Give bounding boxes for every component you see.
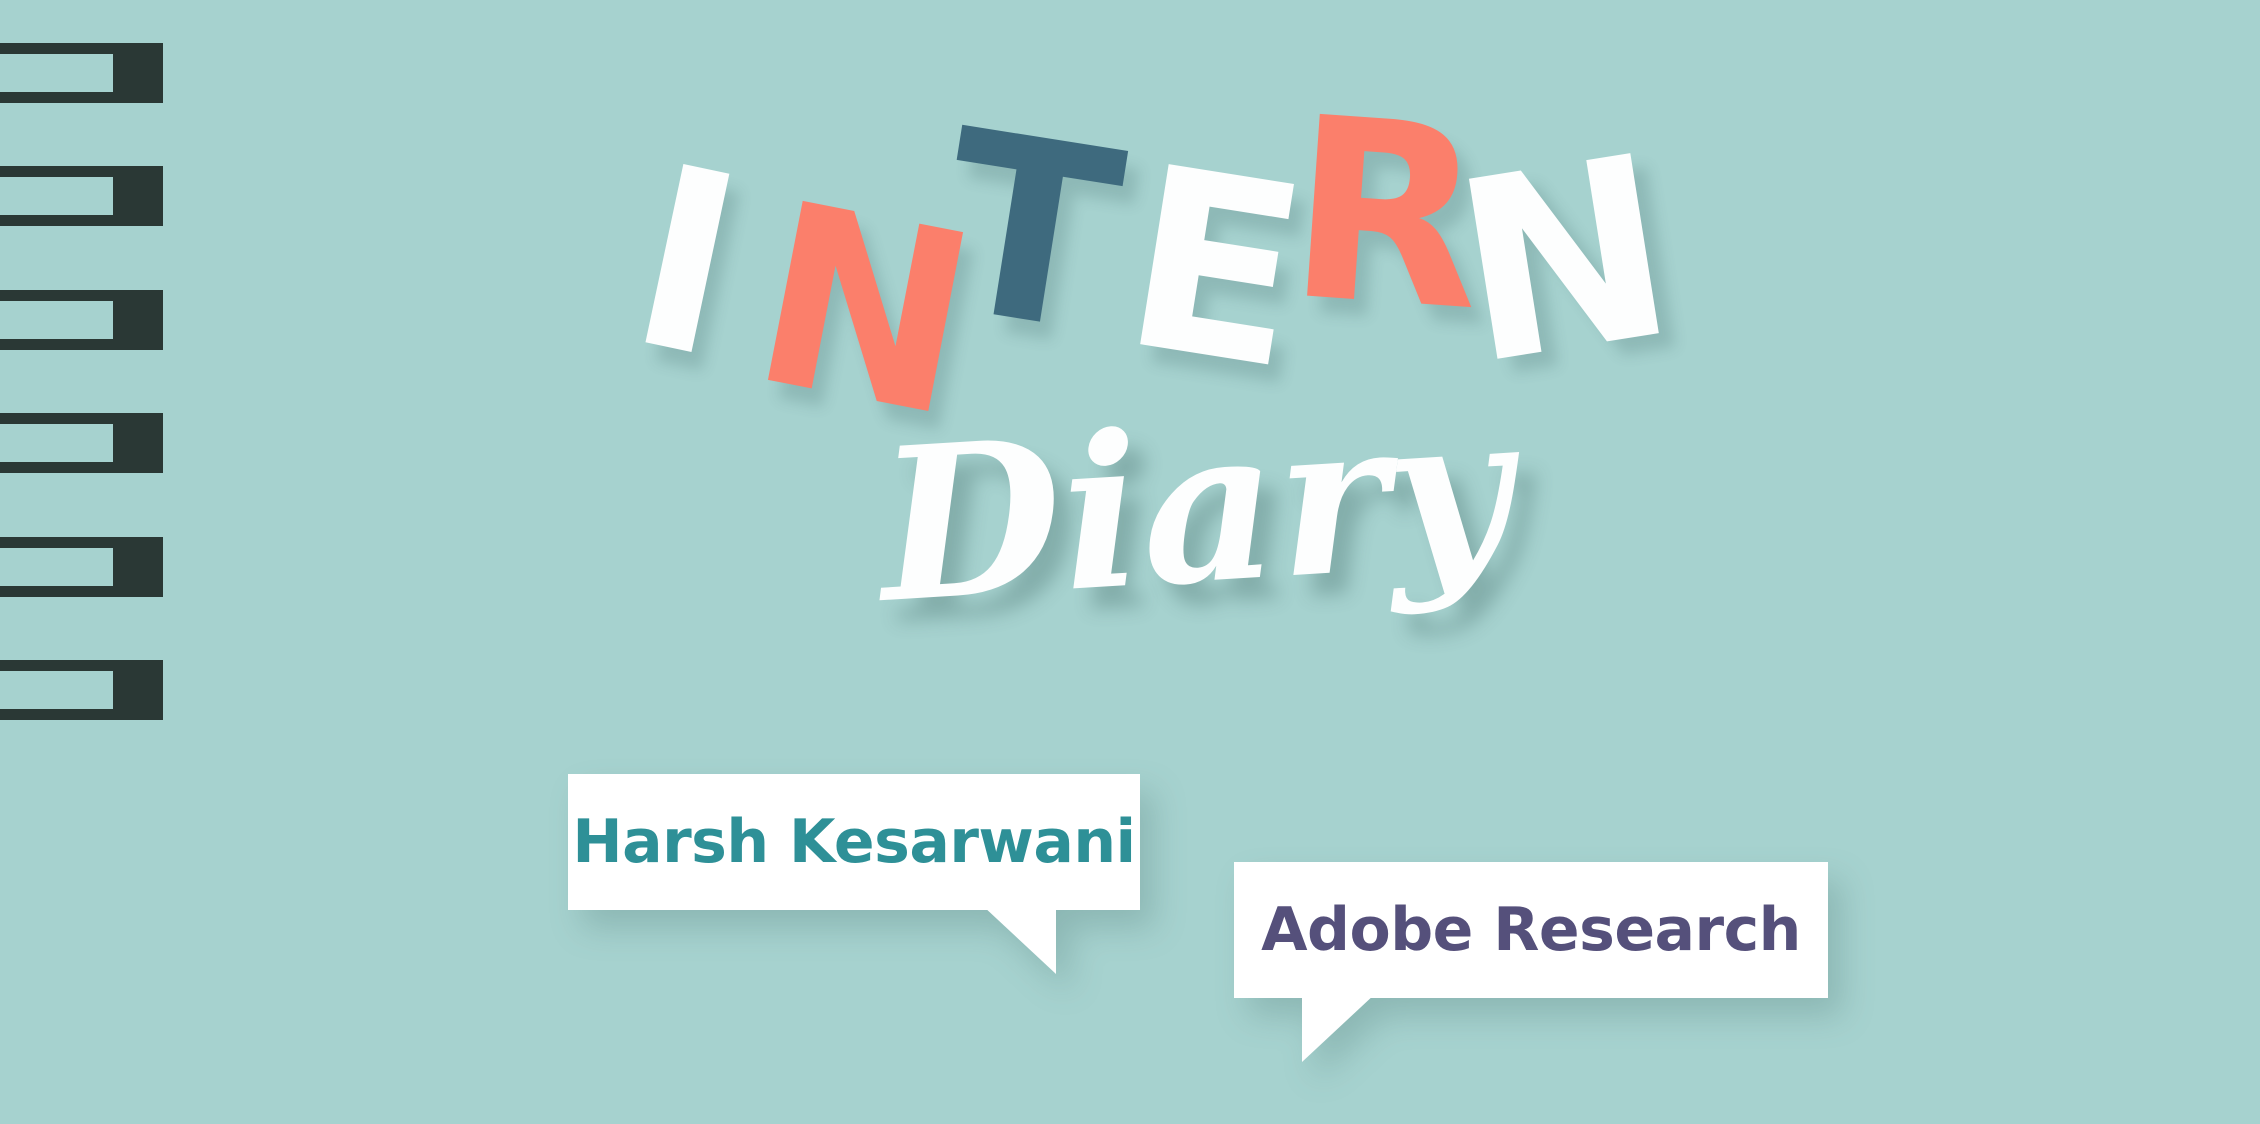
notebook-ring <box>0 537 163 597</box>
notebook-ring <box>0 413 163 473</box>
presenter-name-label: Harsh Kesarwani <box>572 807 1135 877</box>
title-letter-n-5: N <box>1444 133 1686 388</box>
title-letter-t-2: T <box>928 108 1132 357</box>
slide-canvas: INTERN Diary Harsh Kesarwani Adobe Resea… <box>0 0 2260 1124</box>
notebook-ring <box>0 166 163 226</box>
organization-label: Adobe Research <box>1261 895 1801 965</box>
title-letter-i-0: I <box>618 143 756 382</box>
subtitle-diary: Diary <box>874 388 1447 652</box>
notebook-ring <box>0 290 163 350</box>
spiral-notebook-rings <box>0 0 170 1124</box>
notebook-ring <box>0 660 163 720</box>
bubble-tail-icon <box>1302 980 1410 1062</box>
bubble-tail-icon <box>948 892 1056 974</box>
notebook-ring <box>0 43 163 103</box>
speech-bubble-presenter-name: Harsh Kesarwani <box>568 774 1140 910</box>
speech-bubble-organization: Adobe Research <box>1234 862 1828 998</box>
